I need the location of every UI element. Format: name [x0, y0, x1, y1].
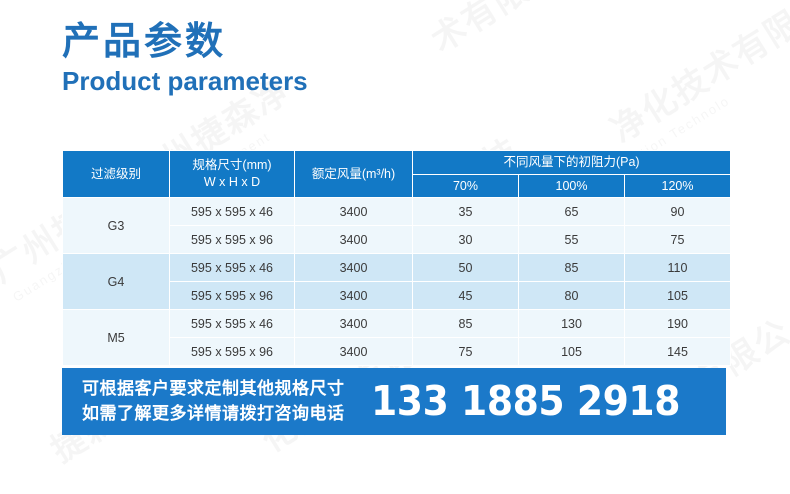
cell-airflow: 3400 [295, 310, 412, 337]
cell-resistance-120: 75 [625, 226, 730, 253]
table-row: G3 595 x 595 x 46 3400 35 65 90 [63, 198, 730, 225]
cell-grade: G3 [63, 198, 169, 253]
col-header-size-line1: 规格尺寸(mm) [170, 157, 294, 174]
col-header-resistance-100: 100% [519, 175, 624, 197]
cell-resistance-100: 65 [519, 198, 624, 225]
cell-airflow: 3400 [295, 338, 412, 365]
cell-airflow: 3400 [295, 198, 412, 225]
cell-size: 595 x 595 x 46 [170, 254, 294, 281]
table-header: 过滤级别 规格尺寸(mm) W x H x D 额定风量(m³/h) 不同风量下… [63, 151, 730, 197]
cell-resistance-120: 90 [625, 198, 730, 225]
table-body: G3 595 x 595 x 46 3400 35 65 90 595 x 59… [63, 198, 730, 365]
col-header-resistance-70: 70% [413, 175, 518, 197]
page-title-cn: 产品参数 [62, 22, 308, 63]
col-header-grade: 过滤级别 [63, 151, 169, 197]
watermark-text: 术有限公司 [420, 0, 599, 62]
cell-resistance-100: 130 [519, 310, 624, 337]
cell-resistance-70: 50 [413, 254, 518, 281]
cell-resistance-100: 85 [519, 254, 624, 281]
cell-resistance-70: 30 [413, 226, 518, 253]
banner-message: 可根据客户要求定制其他规格尺寸 如需了解更多详情请拨打咨询电话 [82, 377, 345, 426]
banner-message-line1: 可根据客户要求定制其他规格尺寸 [82, 377, 345, 402]
cell-size: 595 x 595 x 46 [170, 198, 294, 225]
col-header-airflow: 额定风量(m³/h) [295, 151, 412, 197]
cell-resistance-120: 110 [625, 254, 730, 281]
cell-resistance-120: 145 [625, 338, 730, 365]
cell-resistance-70: 75 [413, 338, 518, 365]
cell-resistance-70: 45 [413, 282, 518, 309]
cell-resistance-120: 190 [625, 310, 730, 337]
cell-resistance-100: 80 [519, 282, 624, 309]
cell-resistance-120: 105 [625, 282, 730, 309]
table-row: M5 595 x 595 x 46 3400 85 130 190 [63, 310, 730, 337]
col-header-resistance-group: 不同风量下的初阻力(Pa) [413, 151, 730, 174]
col-header-size-line2: W x H x D [170, 174, 294, 191]
table-header-row-top: 过滤级别 规格尺寸(mm) W x H x D 额定风量(m³/h) 不同风量下… [63, 151, 730, 174]
cell-size: 595 x 595 x 46 [170, 310, 294, 337]
cell-airflow: 3400 [295, 282, 412, 309]
watermark-text: 净化技术有限 [600, 0, 790, 152]
cell-size: 595 x 595 x 96 [170, 282, 294, 309]
cell-airflow: 3400 [295, 226, 412, 253]
cell-grade: G4 [63, 254, 169, 309]
cell-resistance-100: 55 [519, 226, 624, 253]
page-title-en: Product parameters [62, 67, 308, 96]
page-title-block: 产品参数 Product parameters [62, 22, 308, 96]
product-parameters-table: 过滤级别 规格尺寸(mm) W x H x D 额定风量(m³/h) 不同风量下… [62, 150, 731, 366]
banner-message-line2: 如需了解更多详情请拨打咨询电话 [82, 402, 345, 427]
cell-size: 595 x 595 x 96 [170, 338, 294, 365]
cell-resistance-100: 105 [519, 338, 624, 365]
col-header-resistance-120: 120% [625, 175, 730, 197]
contact-banner: 可根据客户要求定制其他规格尺寸 如需了解更多详情请拨打咨询电话 133 1885… [62, 368, 726, 435]
cell-resistance-70: 85 [413, 310, 518, 337]
cell-airflow: 3400 [295, 254, 412, 281]
table-row: G4 595 x 595 x 46 3400 50 85 110 [63, 254, 730, 281]
cell-size: 595 x 595 x 96 [170, 226, 294, 253]
cell-resistance-70: 35 [413, 198, 518, 225]
cell-grade: M5 [63, 310, 169, 365]
contact-phone-number: 133 1885 2918 [371, 381, 680, 422]
col-header-size: 规格尺寸(mm) W x H x D [170, 151, 294, 197]
